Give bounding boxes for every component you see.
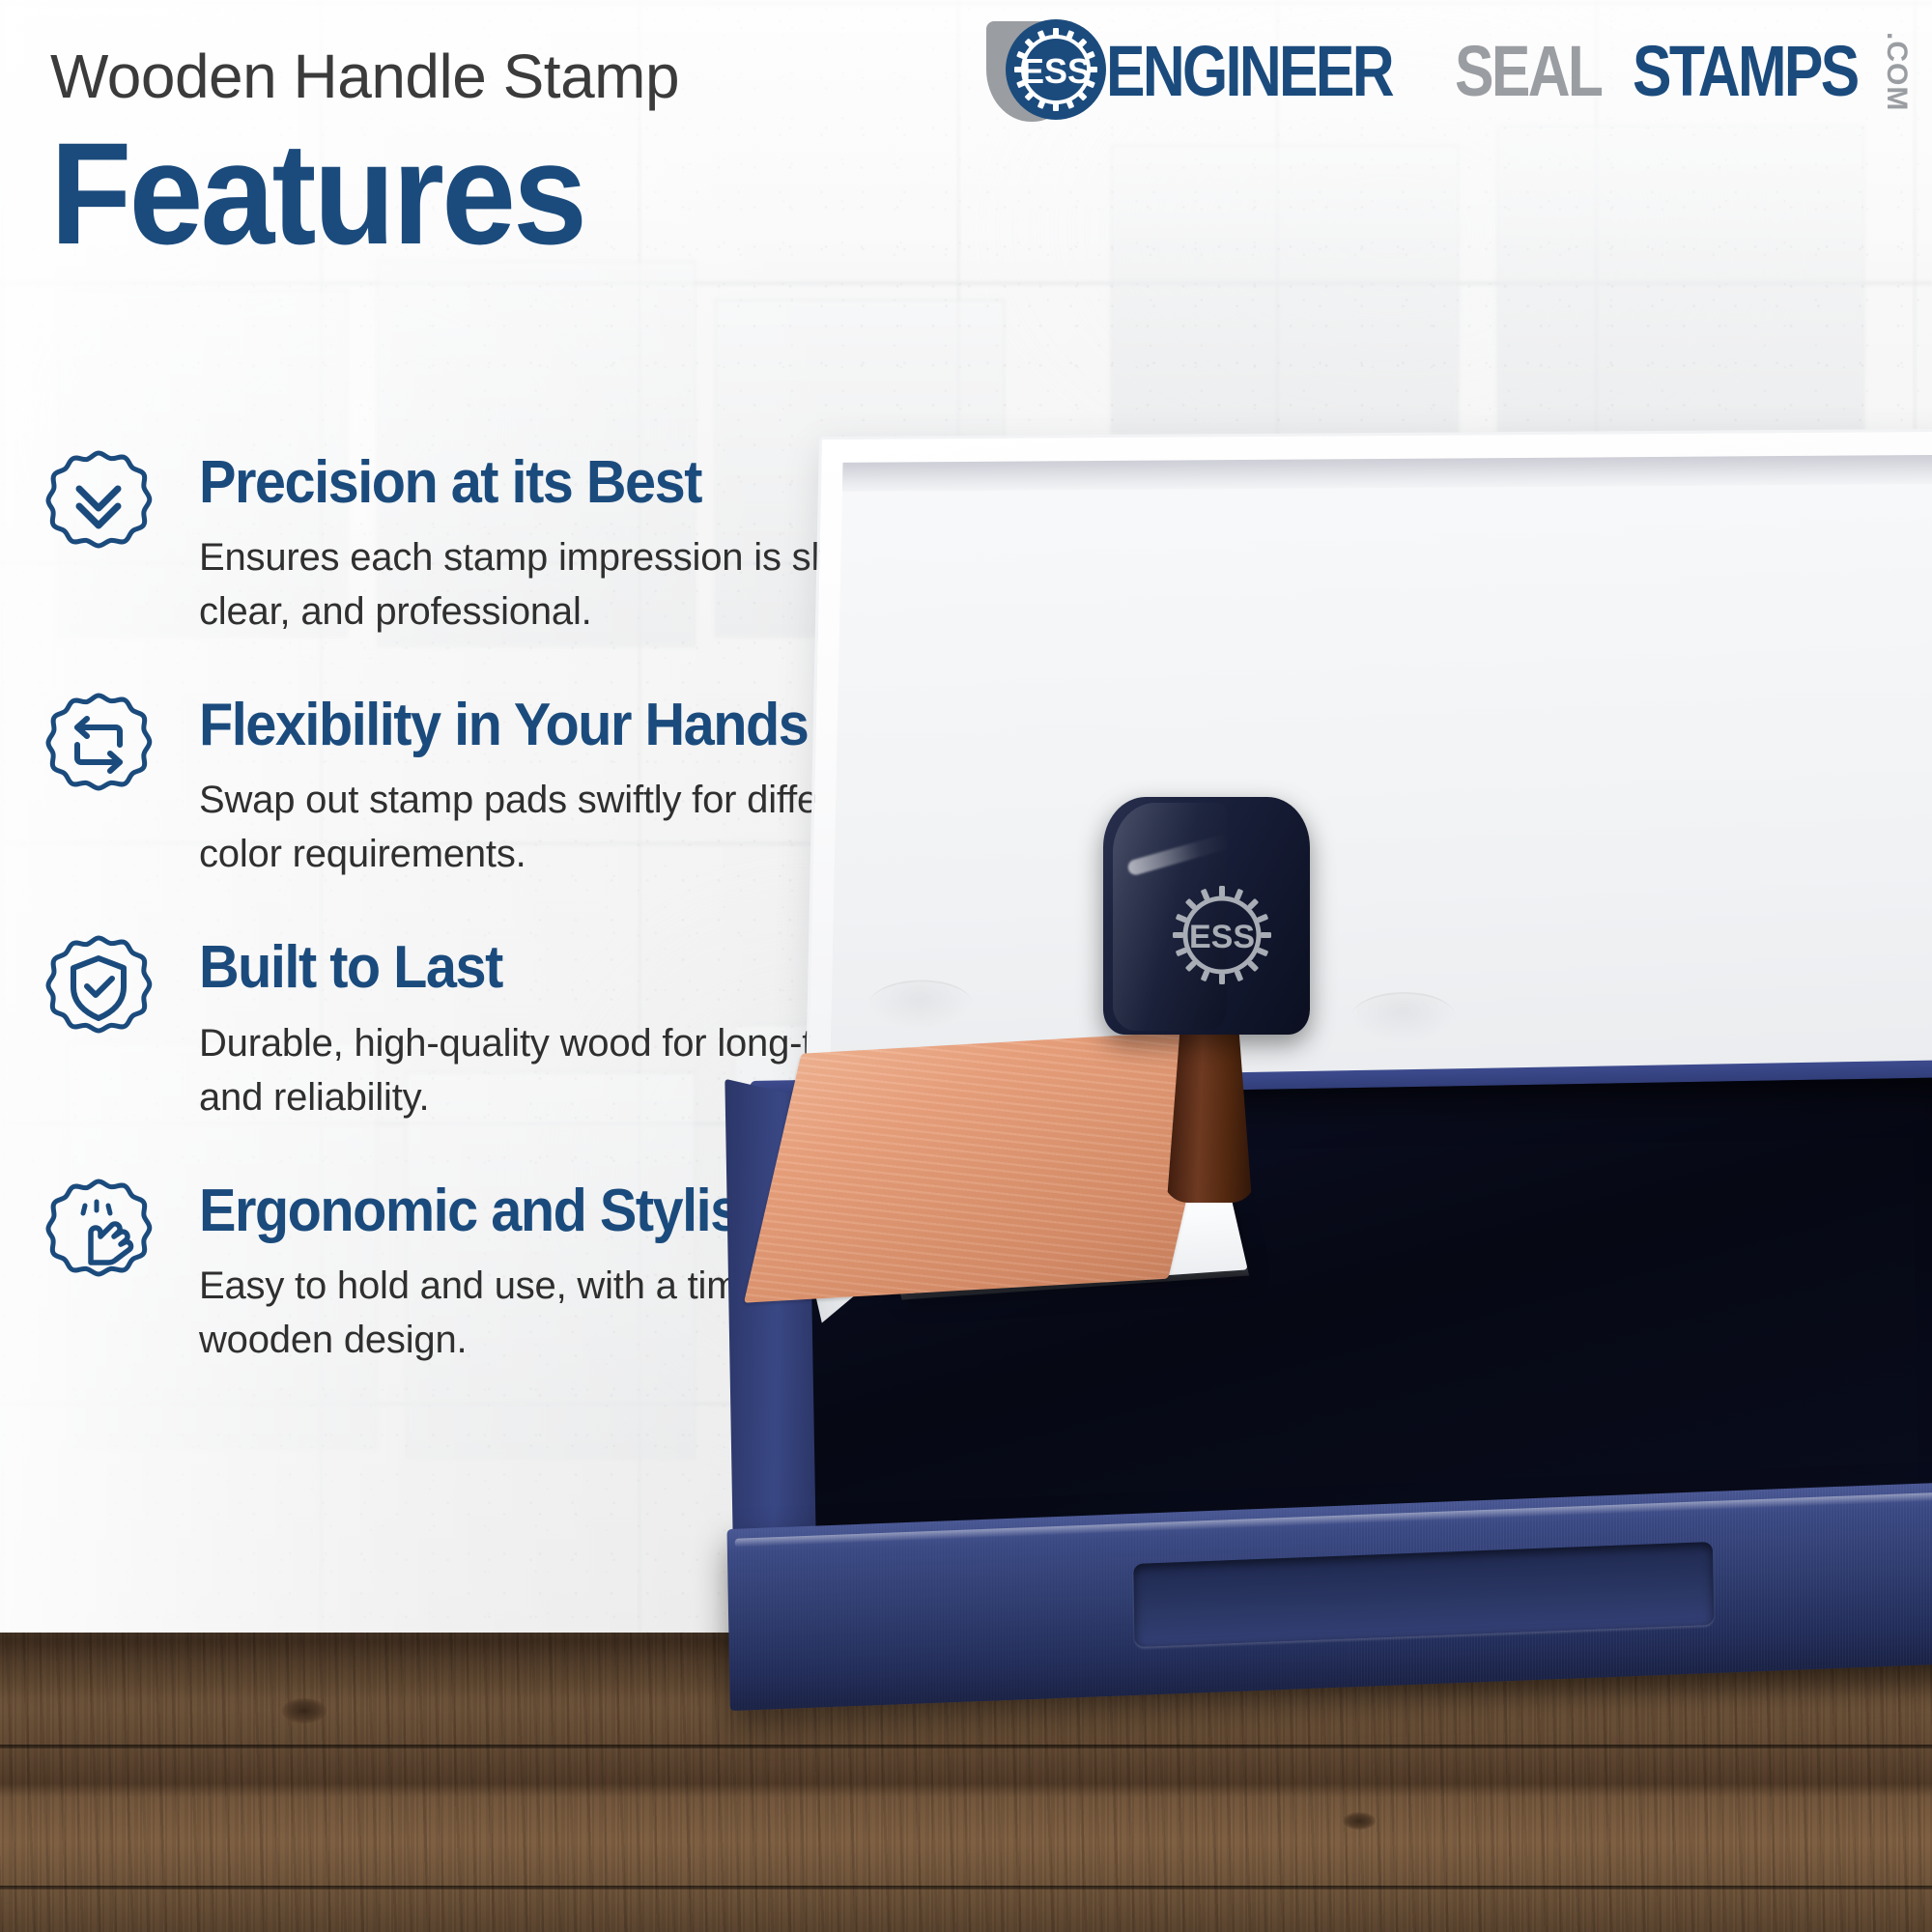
ess-badge-text: ESS <box>1021 51 1091 91</box>
stamp-handle-ess-gear-icon: ESS <box>1169 882 1275 988</box>
tap-hand-badge-icon <box>44 1177 153 1285</box>
logo-word-stamps: STAMPS <box>1633 36 1858 107</box>
shield-check-badge-icon <box>44 933 153 1041</box>
brand-logo[interactable]: ESS ENGINEER SEAL STAMPS .COM <box>986 17 1911 126</box>
logo-word-tld: .COM <box>1882 32 1911 111</box>
ess-gear-seal-icon: ESS <box>1006 19 1106 120</box>
page-title: Features <box>50 123 1010 265</box>
logo-word-seal: SEAL <box>1455 36 1601 107</box>
ess-badge-icon: ESS <box>986 17 1100 126</box>
swap-arrows-badge-icon <box>44 691 153 799</box>
plank-seam-2 <box>0 1886 1932 1889</box>
logo-word-engineer: ENGINEER <box>1106 36 1392 107</box>
double-chevron-down-badge-icon <box>44 448 153 556</box>
page-header: Wooden Handle Stamp Features <box>50 44 1094 265</box>
stamp-handle: ESS <box>1097 797 1320 1203</box>
infographic-canvas: Wooden Handle Stamp Features <box>0 0 1932 1932</box>
stamp-handle-logo-text: ESS <box>1189 919 1255 955</box>
product-photo: ESS <box>927 415 1932 1826</box>
logo-wordmark: ENGINEER SEAL STAMPS .COM <box>1106 32 1911 111</box>
page-subtitle: Wooden Handle Stamp <box>50 44 1094 109</box>
